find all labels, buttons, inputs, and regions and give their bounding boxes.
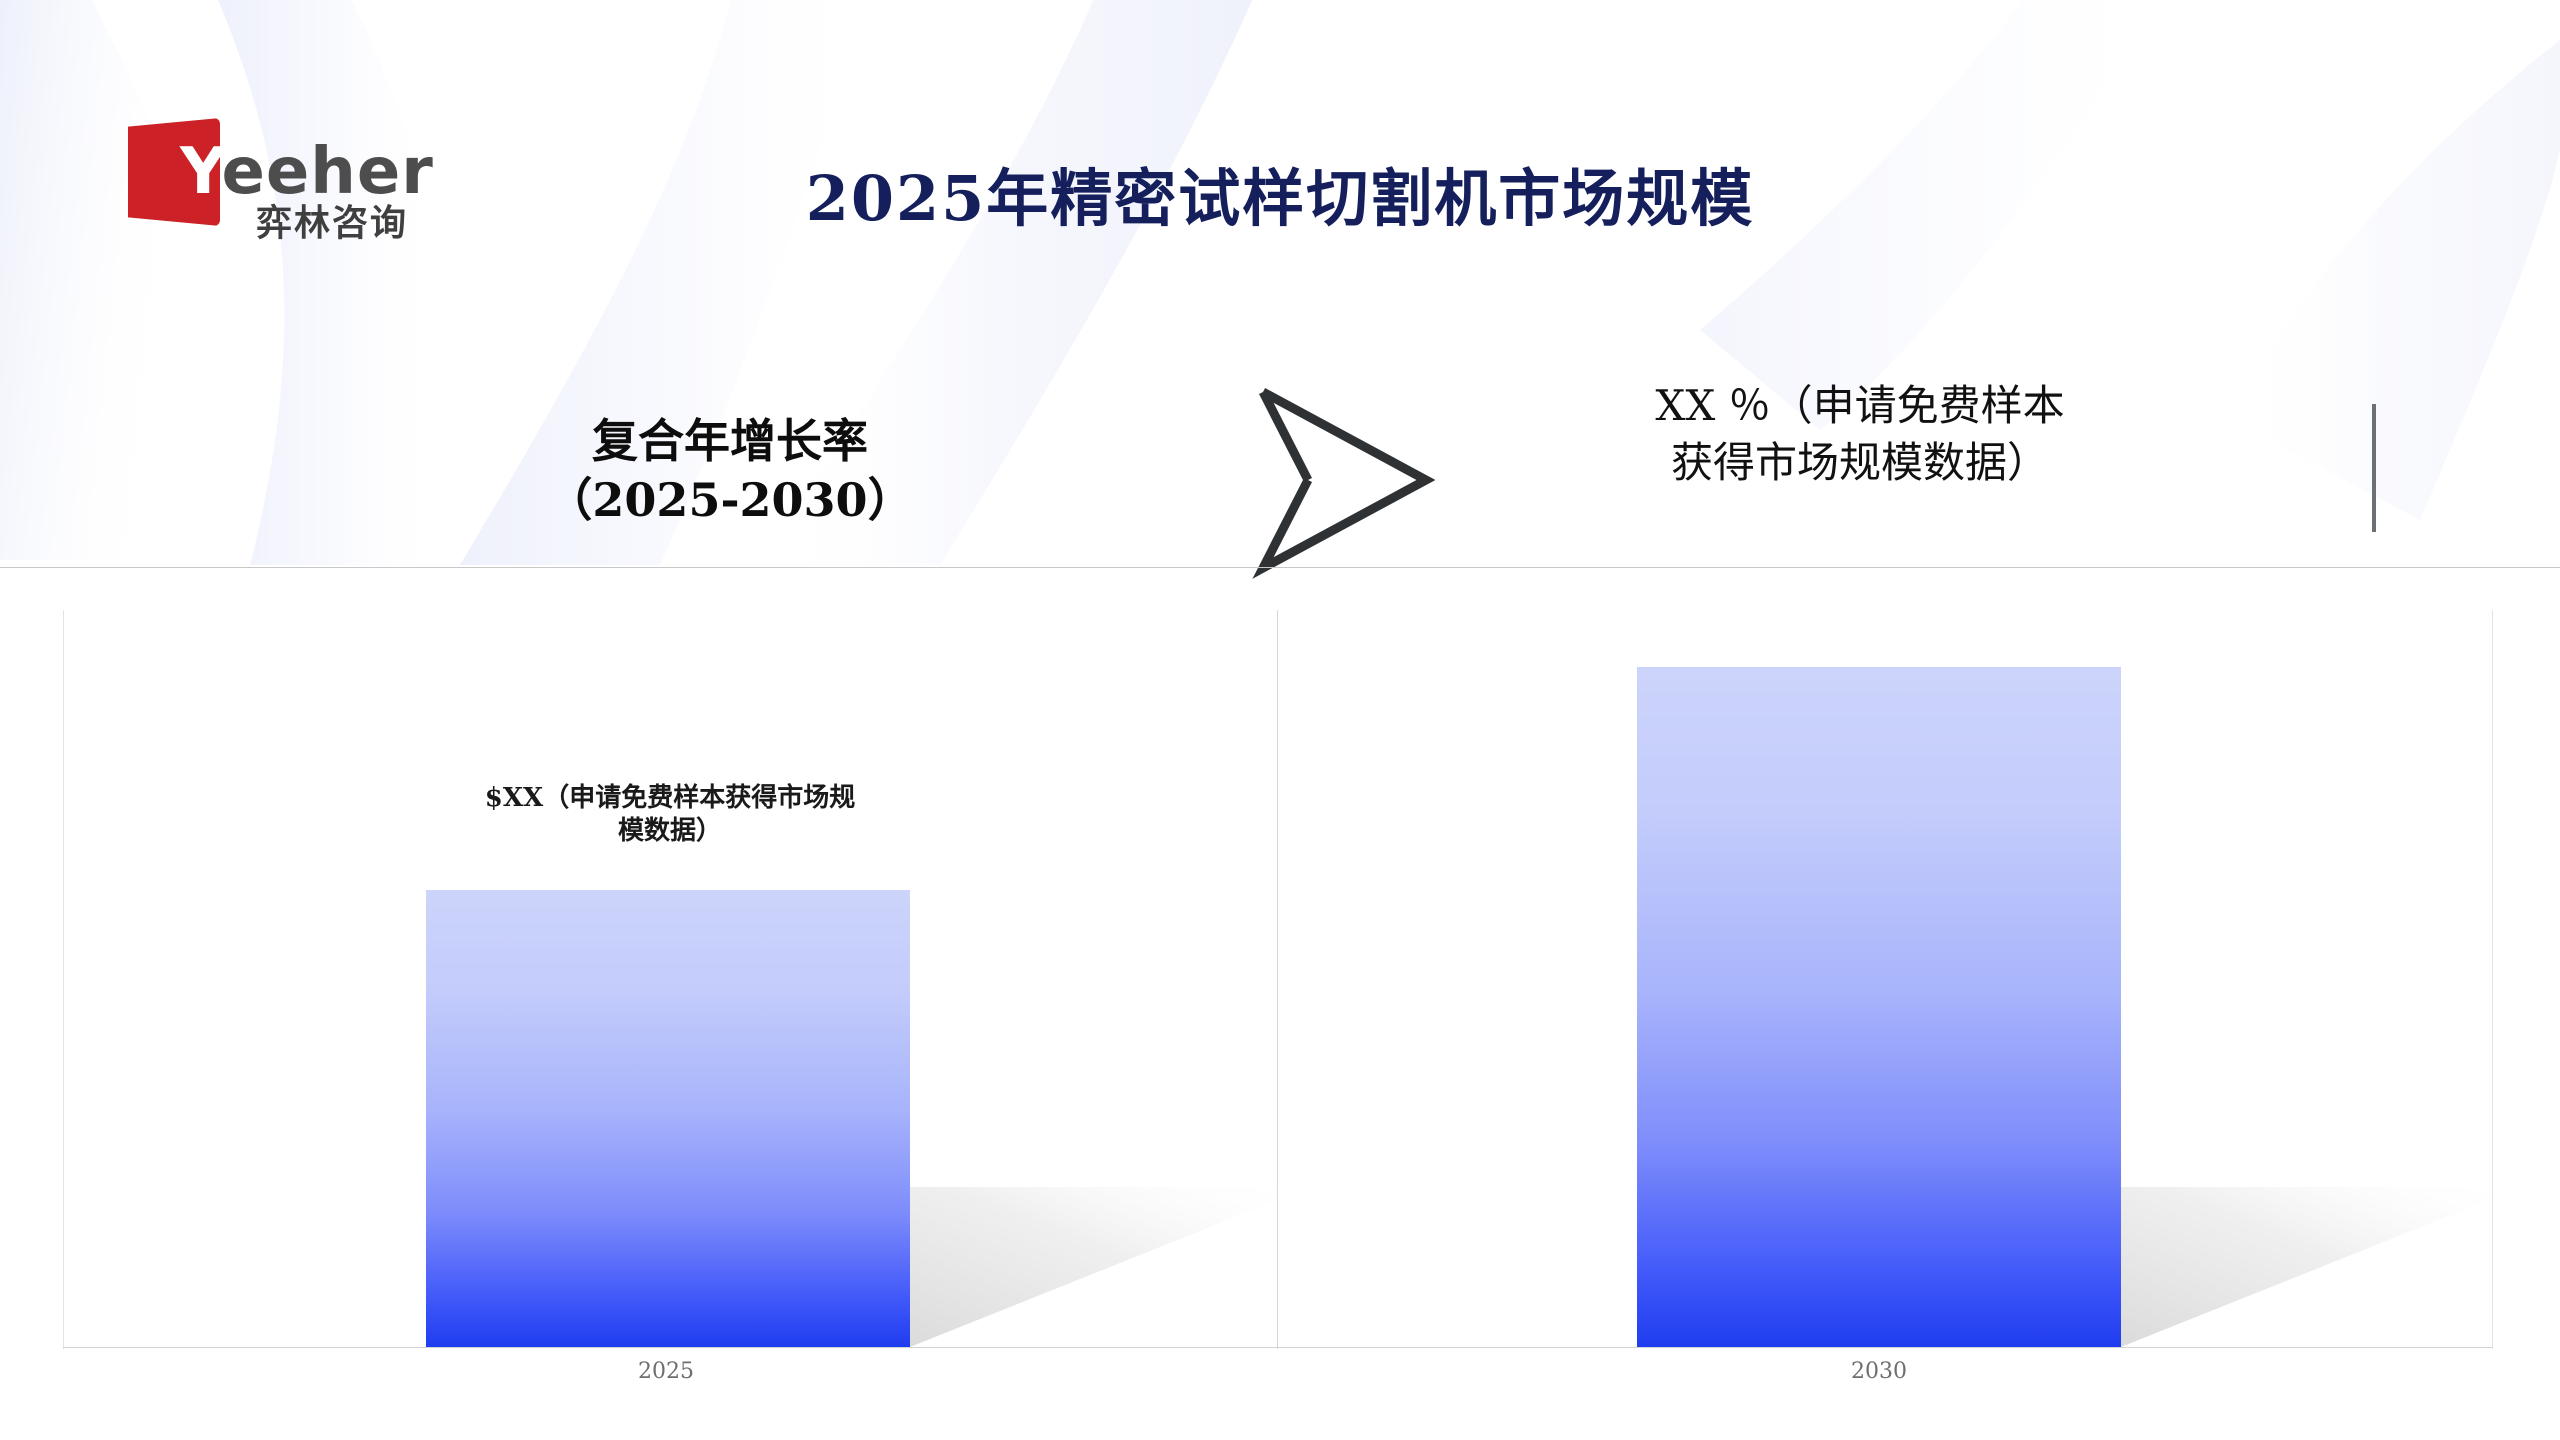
cagr-value-line1: XX ％（申请免费样本 <box>1600 378 2120 435</box>
bar-shadow <box>910 1167 1310 1347</box>
x-axis-tick-2025: 2025 <box>566 1359 766 1384</box>
chart-top-rule <box>0 567 2560 568</box>
cagr-value: XX ％（申请免费样本 获得市场规模数据） <box>1600 378 2120 491</box>
right-vertical-divider <box>2372 404 2376 532</box>
cagr-label: 复合年增长率 （2025-2030） <box>520 412 940 530</box>
logo-wordmark: Yeeher <box>180 140 434 204</box>
logo-word-initial: Y <box>180 135 221 209</box>
cagr-label-line2: （2025-2030） <box>520 471 940 530</box>
page-title: 2025年精密试样切割机市场规模 <box>640 148 1920 238</box>
x-axis-tick-2030: 2030 <box>1779 1359 1979 1384</box>
logo-word-rest: eeher <box>221 135 433 209</box>
arrow-right-outline-icon <box>1230 380 1450 580</box>
bar-2030[interactable] <box>1637 667 2121 1347</box>
bar-value-label-2025: $XX（申请免费样本获得市场规模数据） <box>380 782 960 849</box>
brand-logo: Yeeher 弈林咨询 <box>128 118 478 228</box>
panel-middle-divider <box>1277 610 1278 1349</box>
panel-left-divider <box>63 610 64 1349</box>
bar-2025[interactable] <box>426 890 910 1347</box>
cagr-label-line1: 复合年增长率 <box>520 412 940 471</box>
panel-right-divider <box>2492 610 2493 1349</box>
chart-baseline-axis <box>63 1347 2493 1348</box>
cagr-value-line2: 获得市场规模数据） <box>1600 435 2120 492</box>
slide-header: Yeeher 弈林咨询 2025年精密试样切割机市场规模 复合年增长率 （202… <box>0 0 2560 567</box>
bar-shadow <box>2121 1167 2521 1347</box>
logo-subtitle: 弈林咨询 <box>256 206 408 242</box>
